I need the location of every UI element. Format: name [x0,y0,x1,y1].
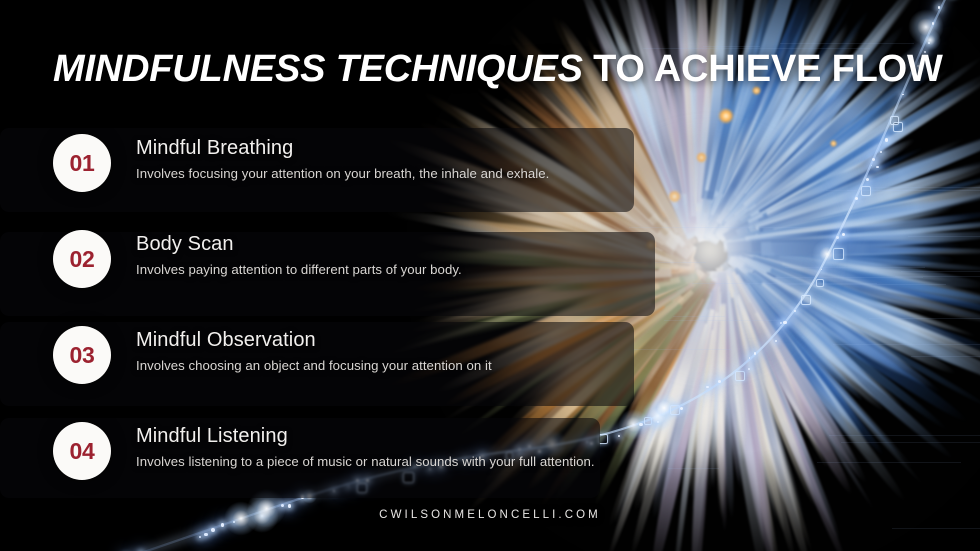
list-item[interactable]: 01 Mindful Breathing Involves focusing y… [0,134,700,206]
item-number: 02 [70,248,95,271]
title-plain: TO ACHIEVE FLOW [583,48,943,90]
item-text-block: Mindful Listening Involves listening to … [136,424,595,471]
footer-website-url[interactable]: CWILSONMELONCELLI.COM [0,509,980,521]
list-item[interactable]: 02 Body Scan Involves paying attention t… [0,230,700,302]
item-description: Involves paying attention to different p… [136,262,462,279]
title-emphasis: MINDFULNESS TECHNIQUES [53,48,583,90]
item-number-badge: 01 [53,134,111,192]
item-title: Mindful Observation [136,328,492,353]
item-number-badge: 04 [53,422,111,480]
item-title: Mindful Listening [136,424,595,449]
item-text-block: Mindful Observation Involves choosing an… [136,328,492,375]
list-item[interactable]: 03 Mindful Observation Involves choosing… [0,326,700,398]
list-item[interactable]: 04 Mindful Listening Involves listening … [0,422,700,494]
item-description: Involves listening to a piece of music o… [136,454,595,471]
item-description: Involves focusing your attention on your… [136,166,549,183]
item-title: Body Scan [136,232,462,257]
poster-content: MINDFULNESS TECHNIQUES TO ACHIEVE FLOW 0… [0,0,980,551]
item-text-block: Body Scan Involves paying attention to d… [136,232,462,279]
item-text-block: Mindful Breathing Involves focusing your… [136,136,549,183]
item-number: 04 [70,440,95,463]
infographic-poster: MINDFULNESS TECHNIQUES TO ACHIEVE FLOW 0… [0,0,980,551]
item-number-badge: 03 [53,326,111,384]
item-description: Involves choosing an object and focusing… [136,358,492,375]
item-number-badge: 02 [53,230,111,288]
item-number: 03 [70,344,95,367]
item-title: Mindful Breathing [136,136,549,161]
item-number: 01 [70,152,95,175]
page-title: MINDFULNESS TECHNIQUES TO ACHIEVE FLOW [53,48,943,91]
